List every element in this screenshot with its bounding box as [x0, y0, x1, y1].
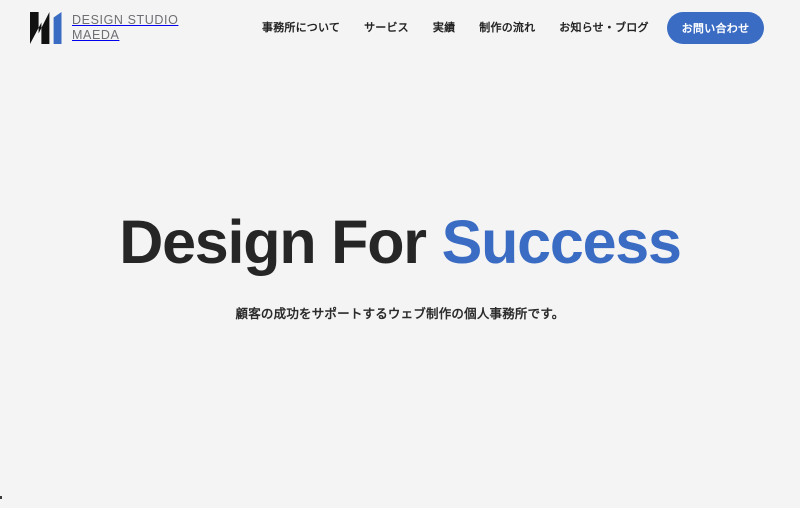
brand-logo-link[interactable]: DESIGN STUDIO MAEDA [30, 11, 178, 45]
brand-wordmark: DESIGN STUDIO MAEDA [72, 13, 178, 44]
page-bottom-edge [0, 497, 800, 508]
hero-headline-main: Design For [119, 208, 426, 276]
page-root: DESIGN STUDIO MAEDA 事務所について サービス 実績 制作の流… [0, 0, 800, 508]
bottom-left-marker [0, 496, 2, 499]
brand-line-1: DESIGN STUDIO [72, 13, 178, 28]
site-header: DESIGN STUDIO MAEDA 事務所について サービス 実績 制作の流… [0, 0, 800, 57]
m-monogram-logo-icon [30, 11, 63, 45]
hero-section: Design For Success 顧客の成功をサポートするウェブ制作の個人事… [0, 57, 800, 508]
nav-item-about[interactable]: 事務所について [262, 20, 340, 36]
nav-item-works[interactable]: 実績 [433, 20, 455, 36]
nav-item-process[interactable]: 制作の流れ [479, 20, 535, 36]
hero-headline-accent: Success [442, 208, 681, 276]
nav-item-services[interactable]: サービス [364, 20, 409, 36]
contact-cta-button[interactable]: お問い合わせ [667, 12, 764, 44]
brand-line-2: MAEDA [72, 28, 178, 43]
hero-subheadline: 顧客の成功をサポートするウェブ制作の個人事務所です。 [0, 303, 800, 322]
hero-headline: Design For Success [0, 212, 800, 273]
nav-item-news-blog[interactable]: お知らせ・ブログ [559, 20, 648, 36]
